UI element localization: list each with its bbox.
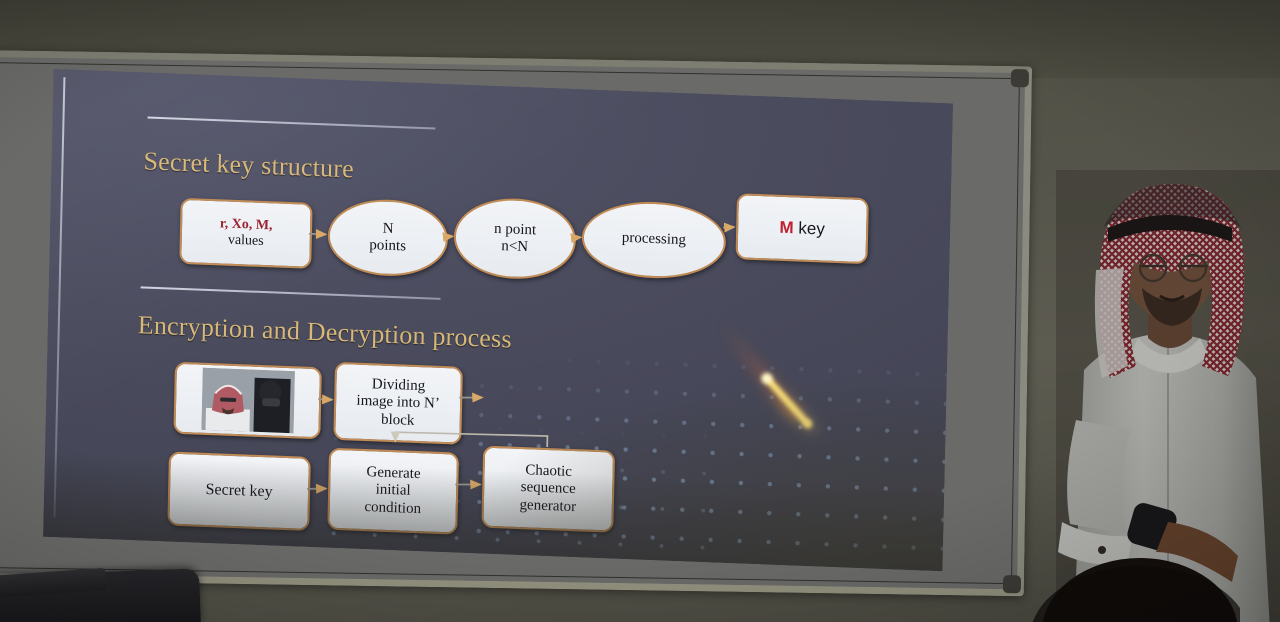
node-params-line2: values bbox=[219, 232, 272, 250]
node-params[interactable]: r, Xo, M, values bbox=[179, 198, 312, 269]
node-dividing-line3: block bbox=[356, 410, 440, 431]
node-params-text: r, Xo, M, values bbox=[213, 214, 279, 253]
photo-of-two-people bbox=[201, 368, 294, 434]
node-chaotic-line3: generator bbox=[519, 497, 576, 517]
node-n-points-line2: points bbox=[369, 237, 406, 256]
source-image-thumbnail bbox=[201, 368, 294, 434]
node-n-point-subset-line2: n<N bbox=[493, 238, 535, 257]
section2-rule bbox=[141, 286, 441, 299]
node-generate-line1: Generate bbox=[365, 464, 422, 484]
node-n-points[interactable]: N points bbox=[327, 197, 449, 278]
node-m-key-label: key bbox=[793, 219, 825, 239]
node-chaotic-line2: sequence bbox=[520, 479, 577, 499]
node-n-point-subset-line1: n point bbox=[494, 220, 536, 239]
node-m-key-text: M key bbox=[773, 216, 831, 242]
node-generate-line3: condition bbox=[364, 499, 421, 519]
node-chaotic-line1: Chaotic bbox=[520, 462, 577, 482]
shooting-star-icon bbox=[691, 306, 864, 462]
slide-canvas: Secret key structure r, Xo, M, values N … bbox=[43, 69, 953, 571]
node-n-point-subset-text: n point n<N bbox=[487, 218, 542, 259]
slide-left-vertical-rule bbox=[53, 77, 64, 517]
node-n-points-line1: N bbox=[370, 220, 407, 239]
projected-slide: Secret key structure r, Xo, M, values N … bbox=[43, 69, 953, 571]
audience-head-figure bbox=[990, 502, 1240, 622]
node-secret-key[interactable]: Secret key bbox=[167, 452, 311, 531]
node-source-image[interactable] bbox=[173, 362, 322, 440]
node-m-key[interactable]: M key bbox=[735, 193, 868, 264]
arrow-generate-to-chaotic bbox=[455, 484, 480, 486]
node-m-key-m: M bbox=[779, 218, 794, 238]
node-dividing-line2: image into N’ bbox=[356, 393, 440, 414]
node-dividing-image-text: Dividing image into N’ block bbox=[350, 373, 447, 433]
frame-corner-cap-top-right bbox=[1011, 69, 1029, 87]
section1-title: Secret key structure bbox=[143, 146, 354, 184]
arrow-processing-to-mkey bbox=[723, 227, 734, 228]
node-chaotic-text: Chaotic sequence generator bbox=[513, 460, 583, 519]
whiteboard: Secret key structure r, Xo, M, values N … bbox=[0, 50, 1032, 597]
screenshot-root: Secret key structure r, Xo, M, values N … bbox=[0, 0, 1280, 622]
node-chaotic-sequence-generator[interactable]: Chaotic sequence generator bbox=[481, 446, 615, 533]
node-processing-text: processing bbox=[616, 228, 693, 252]
section1-rule bbox=[148, 116, 436, 129]
arrow-dividing-out bbox=[459, 397, 482, 399]
node-dividing-image[interactable]: Dividing image into N’ block bbox=[333, 362, 463, 445]
node-generate-line2: initial bbox=[365, 481, 422, 501]
node-n-point-subset[interactable]: n point n<N bbox=[453, 196, 577, 281]
node-params-line1: r, Xo, M, bbox=[220, 216, 273, 234]
node-generate-initial-condition[interactable]: Generate initial condition bbox=[327, 448, 459, 535]
node-n-points-text: N points bbox=[363, 217, 413, 258]
section2-title: Encryption and Decryption process bbox=[137, 310, 512, 354]
node-generate-text: Generate initial condition bbox=[358, 462, 428, 521]
node-processing[interactable]: processing bbox=[581, 199, 727, 281]
node-secret-key-text: Secret key bbox=[199, 478, 279, 504]
